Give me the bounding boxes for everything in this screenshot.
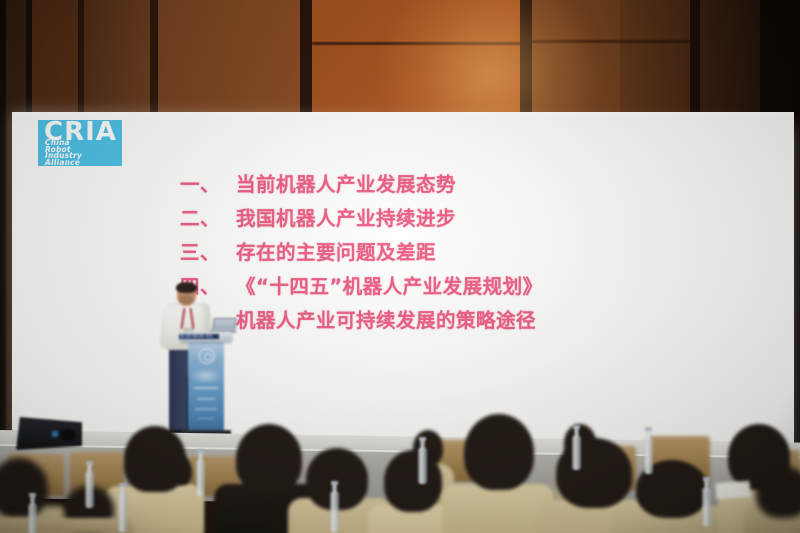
wall-panel-seam: [312, 42, 522, 45]
agenda-item-4-text: 《“十四五”机器人产业发展规划》: [236, 270, 543, 299]
agenda-item-2: 二、 我国机器人产业持续进步: [180, 202, 780, 236]
podium-graphic-glow: [190, 368, 222, 384]
agenda-item-3-text: 存在的主要问题及差距: [236, 236, 436, 265]
water-bottle-9: [28, 504, 37, 533]
water-bottle-4: [418, 448, 427, 484]
audience-notes-paper: [715, 481, 750, 499]
water-bottle-2: [118, 494, 127, 532]
screen-top-edge: [12, 112, 794, 115]
water-bottle-5: [572, 436, 581, 470]
cria-logo-subtitle-line-4: Alliance: [45, 160, 82, 167]
water-bottle-3: [196, 460, 205, 496]
conference-photo: CRIA China Robot Industry Alliance 一、 当前…: [0, 0, 800, 533]
cria-logo-subtitle: China Robot Industry Alliance: [45, 140, 82, 166]
water-bottle-6: [644, 438, 653, 474]
audience-member-8-head: [384, 450, 442, 512]
audience-member-13-head: [756, 466, 800, 518]
agenda-item-3-number: 三、: [180, 236, 236, 265]
podium-sign-text: 第六届中国机器人峰会: [180, 334, 213, 339]
agenda-item-1-number: 一、: [180, 168, 236, 197]
audience-member-11: [612, 462, 732, 533]
podium-name-sign: 第六届中国机器人峰会: [179, 334, 219, 339]
water-bottle-8: [330, 492, 339, 532]
agenda-item-1-text: 当前机器人产业发展态势: [236, 168, 456, 197]
agenda-item-5-text: 机器人产业可持续发展的策略途径: [236, 304, 536, 333]
audience-area: [0, 396, 800, 533]
audience-table-edge: [0, 518, 132, 533]
agenda-item-1: 一、 当前机器人产业发展态势: [180, 168, 780, 202]
water-bottle-1: [85, 472, 94, 508]
audience-member-9-head: [464, 414, 534, 490]
podium-desktop: 第六届中国机器人峰会: [180, 332, 232, 342]
agenda-item-2-text: 我国机器人产业持续进步: [236, 202, 456, 231]
agenda-item-4: 四、 《“十四五”机器人产业发展规划》: [180, 270, 780, 304]
agenda-item-5: 机器人产业可持续发展的策略途径: [180, 304, 780, 338]
podium-text-bar-1: [194, 387, 218, 389]
audience-member-5-head: [124, 426, 186, 492]
podium-emblem-icon: [199, 348, 215, 364]
cria-logo: CRIA China Robot Industry Alliance: [38, 120, 122, 166]
presenter-face-shadow: [179, 295, 193, 304]
audience-member-13: [744, 474, 800, 533]
presenter-hair: [176, 282, 197, 293]
slide-agenda-list: 一、 当前机器人产业发展态势 二、 我国机器人产业持续进步 三、 存在的主要问题…: [180, 168, 780, 338]
agenda-item-2-number: 二、: [180, 202, 236, 231]
agenda-item-3: 三、 存在的主要问题及差距: [180, 236, 780, 270]
water-bottle-7: [702, 488, 711, 526]
